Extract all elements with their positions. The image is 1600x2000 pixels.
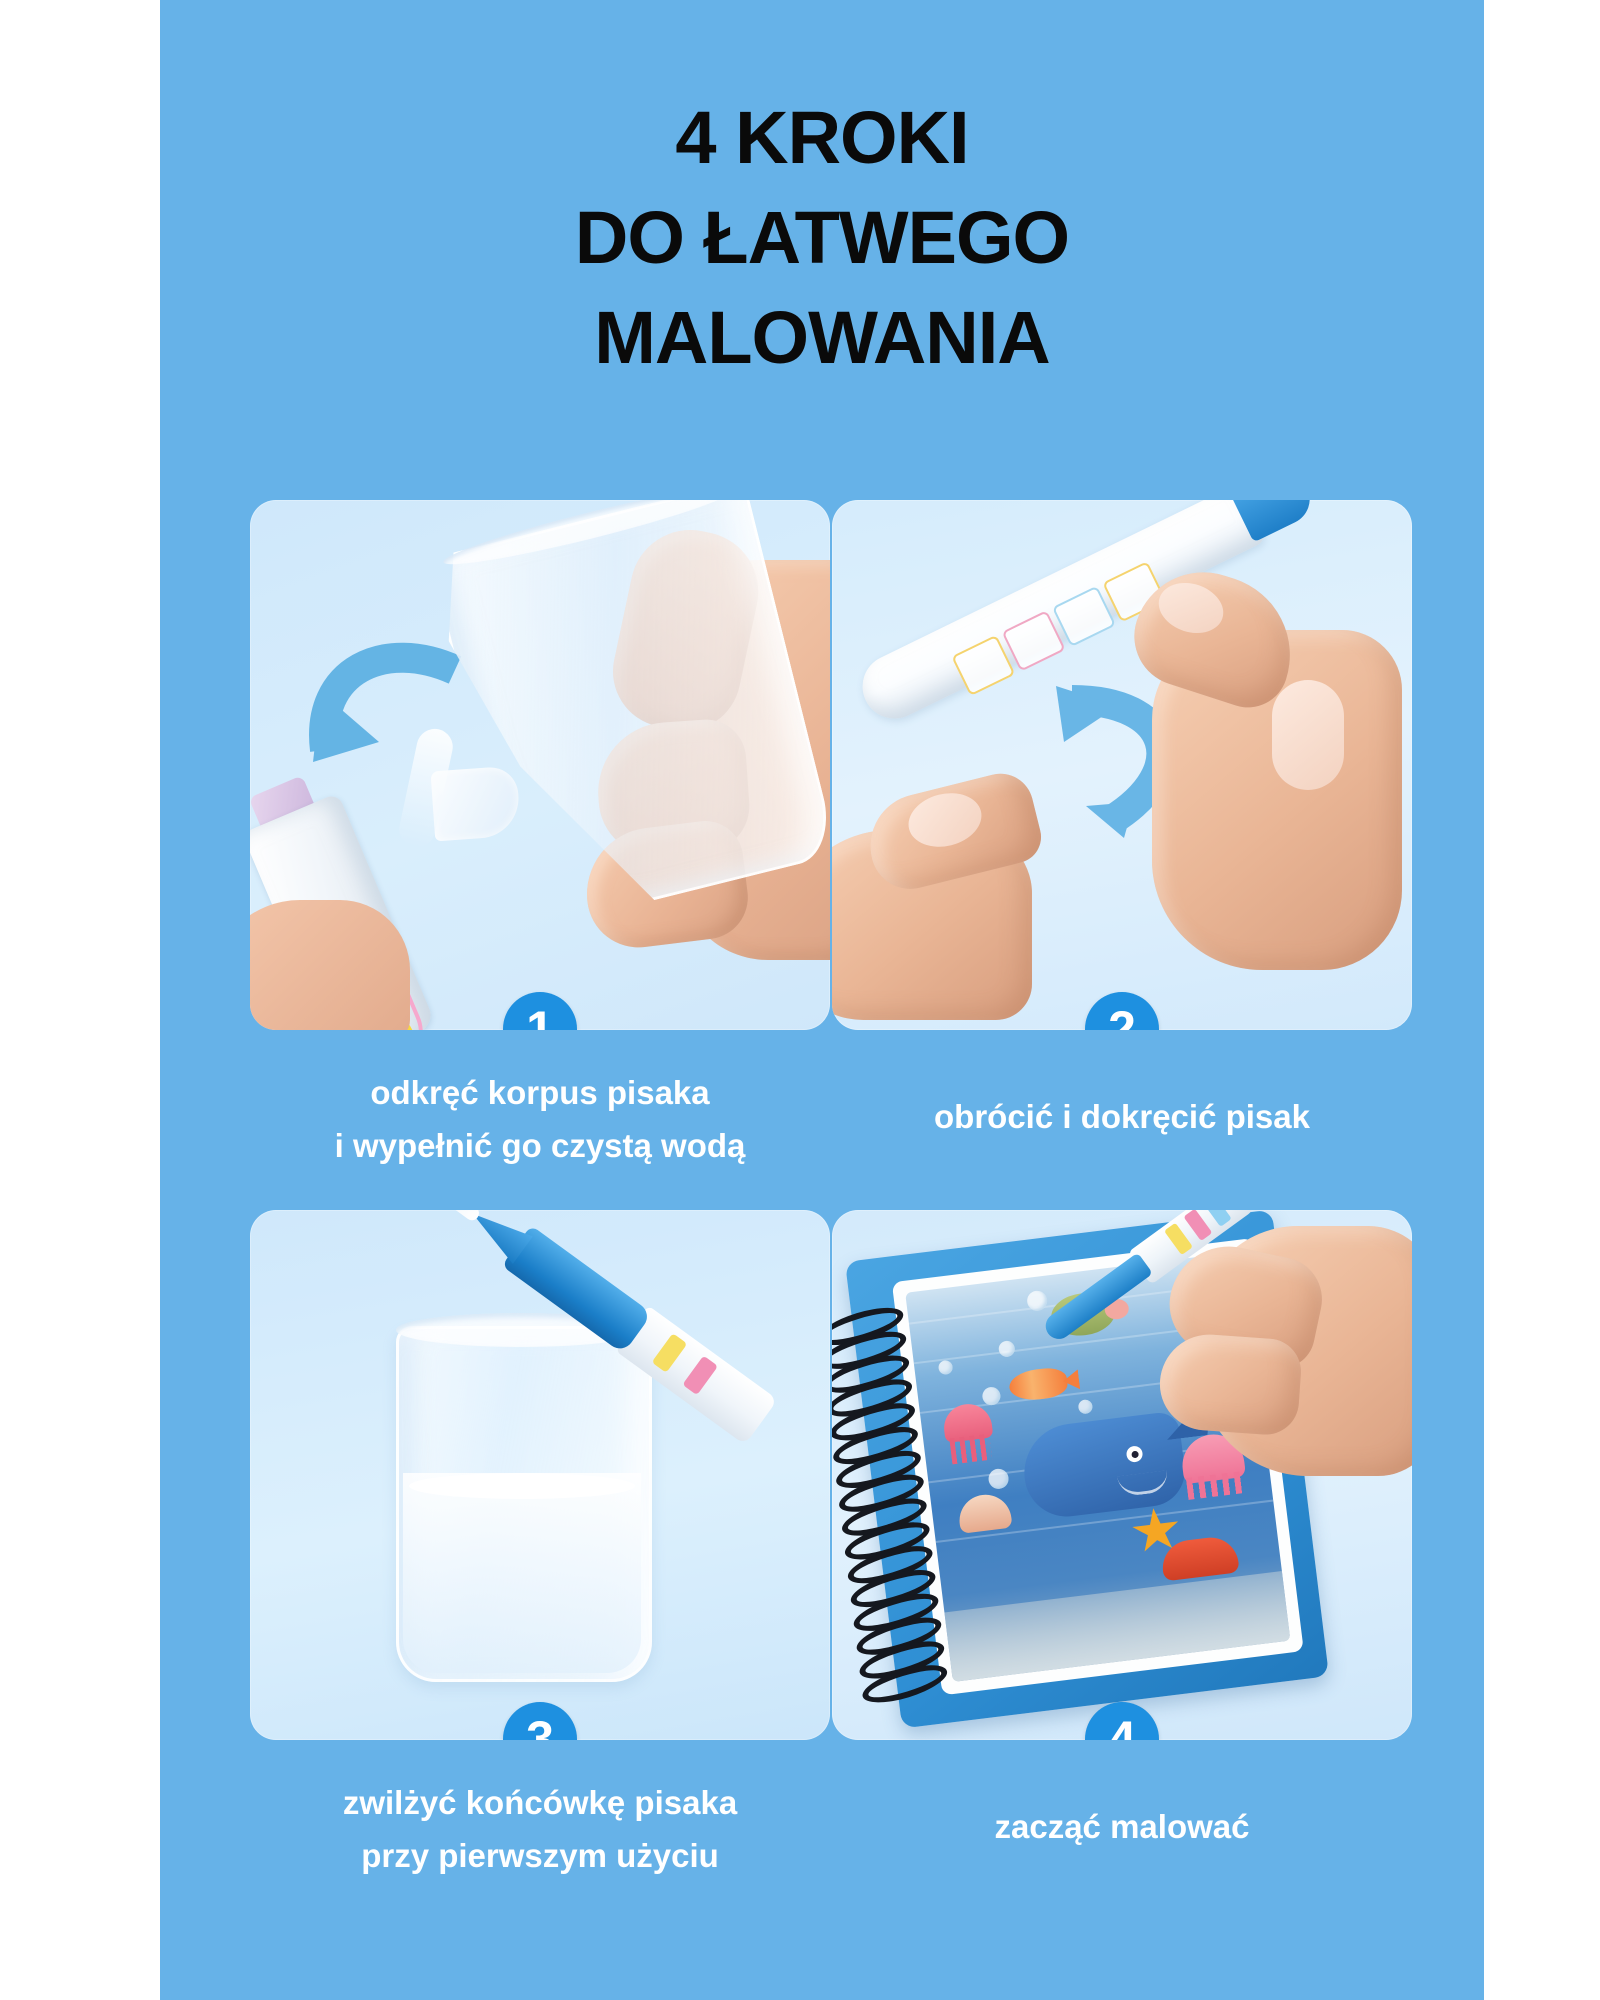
step-card-4: 4 zacząć malować <box>832 1210 1412 1740</box>
step-caption-3-line-1: zwilżyć końcówkę pisaka <box>210 1776 870 1829</box>
step-4-illustration <box>832 1210 1412 1740</box>
whale-eye <box>1126 1445 1144 1463</box>
step-1-photo: 1 <box>250 500 830 1030</box>
fish-icon <box>1008 1366 1069 1403</box>
step-1-illustration <box>250 500 830 1030</box>
shell-icon <box>957 1492 1013 1534</box>
step-2-illustration <box>832 500 1412 1030</box>
step-3-photo: 3 <box>250 1210 830 1740</box>
step-caption-1-line-2: i wypełnić go czystą wodą <box>210 1119 870 1172</box>
bubble-icon <box>998 1340 1016 1358</box>
title-line-1: 4 KROKI <box>160 88 1484 188</box>
pen-label-2 <box>1002 610 1066 671</box>
title-line-3: MALOWANIA <box>160 288 1484 388</box>
step-2-photo: 2 <box>832 500 1412 1030</box>
bubble-icon <box>1078 1399 1094 1415</box>
step-card-1: 1 odkręć korpus pisaka i wypełnić go czy… <box>250 500 830 1030</box>
step-caption-4: zacząć malować <box>792 1800 1452 1853</box>
measuring-cup <box>428 500 830 976</box>
cup-body <box>428 500 830 933</box>
thumbnail-right <box>1272 680 1344 790</box>
step-caption-4-line-1: zacząć malować <box>792 1800 1452 1853</box>
step-caption-1: odkręć korpus pisaka i wypełnić go czyst… <box>210 1066 870 1172</box>
step-caption-2: obrócić i dokręcić pisak <box>792 1090 1452 1143</box>
hand-holding-pen <box>250 900 410 1030</box>
poster-background: 4 KROKI DO ŁATWEGO MALOWANIA <box>160 0 1484 2000</box>
step-3-illustration <box>250 1210 830 1740</box>
hand-right <box>1122 560 1412 990</box>
pen-label-1 <box>951 635 1015 696</box>
step-card-2: 2 obrócić i dokręcić pisak <box>832 500 1412 1030</box>
step-caption-3: zwilżyć końcówkę pisaka przy pierwszym u… <box>210 1776 870 1882</box>
title-line-2: DO ŁATWEGO <box>160 188 1484 288</box>
step-card-3: 3 zwilżyć końcówkę pisaka przy pierwszym… <box>250 1210 830 1740</box>
step-caption-3-line-2: przy pierwszym użyciu <box>210 1829 870 1882</box>
middle-finger <box>1157 1331 1303 1437</box>
bubble-icon <box>938 1360 954 1376</box>
page-title: 4 KROKI DO ŁATWEGO MALOWANIA <box>160 88 1484 388</box>
step-4-photo: 4 <box>832 1210 1412 1740</box>
step-caption-1-line-1: odkręć korpus pisaka <box>210 1066 870 1119</box>
step-caption-2-line-1: obrócić i dokręcić pisak <box>792 1090 1452 1143</box>
pen-label-3 <box>1052 586 1116 647</box>
pen-nib <box>446 1210 482 1223</box>
crab-icon <box>1160 1534 1240 1581</box>
